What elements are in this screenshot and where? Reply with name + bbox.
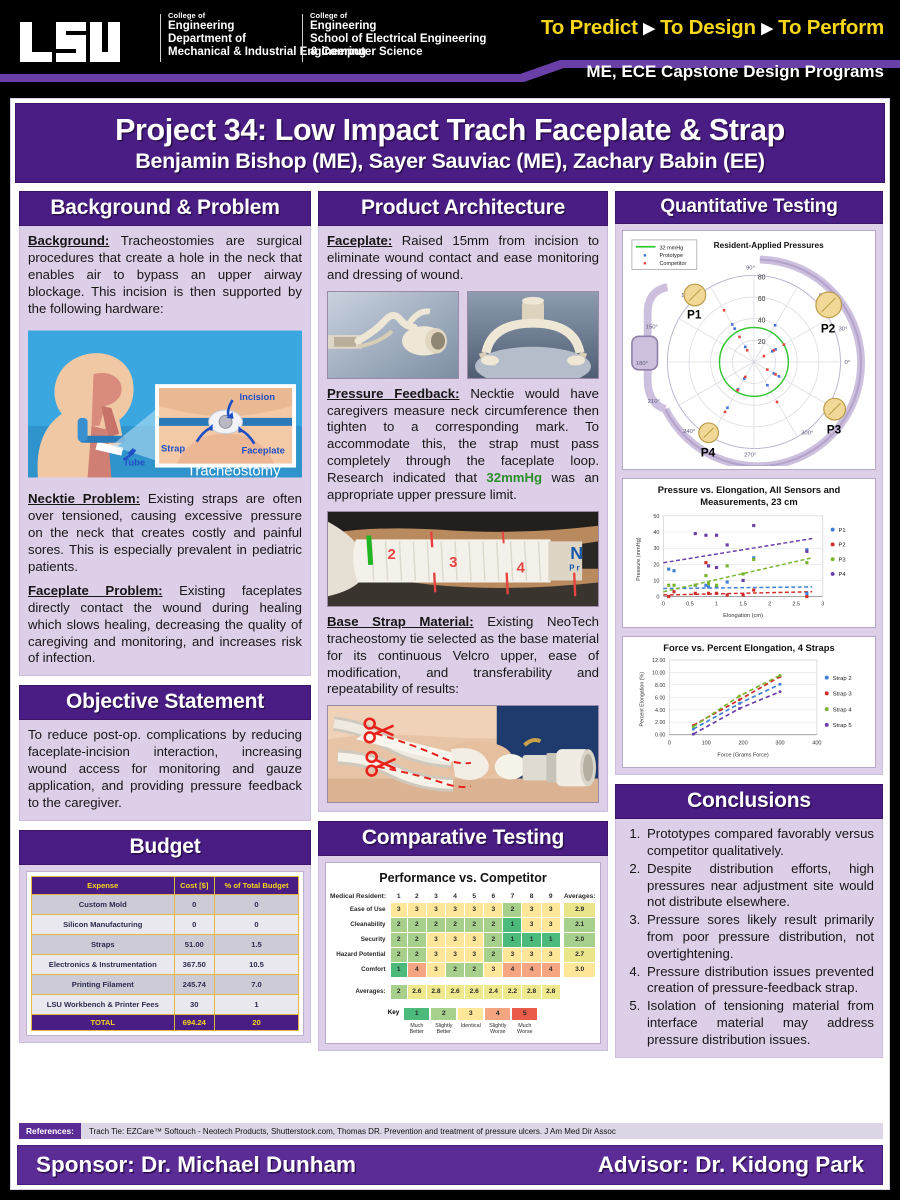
scatter-legend-label: P3 — [839, 557, 846, 563]
r-tick-40: 40 — [758, 318, 766, 325]
heatmap-key-item: 4Slightly Worse — [484, 1007, 511, 1036]
budget-row: Silicon Manufacturing00 — [32, 914, 299, 934]
heatmap-averages-row: Averages:22.62.82.62.62.42.22.82.8 — [330, 984, 596, 999]
heatmap-cell: 3 — [465, 902, 484, 917]
page-title: Project 34: Low Impact Trach Faceplate &… — [115, 113, 785, 148]
polar-point-competitor — [724, 411, 727, 414]
panel-objective-statement: Objective Statement To reduce post-op. c… — [19, 685, 311, 820]
scatter-legend-swatch — [831, 542, 835, 546]
neotech-brand-mark: N — [570, 543, 583, 563]
line-chart-title: Force vs. Percent Elongation, 4 Straps — [626, 640, 872, 654]
scatter-point-P2 — [694, 592, 697, 595]
line-legend-swatch — [825, 723, 829, 727]
polar-pressure-chart: Resident-Applied Pressures 32 mmHg Proto… — [626, 234, 872, 466]
heatmap-cell: 3 — [541, 917, 560, 932]
heatmap-key: Key 1Much Better2Slightly Better3Identic… — [330, 1007, 596, 1036]
heatmap-cell: 1 — [541, 932, 560, 947]
budget-row: Electronics & Instrumentation367.5010.5 — [32, 954, 299, 974]
line-legend-label: Strap 5 — [833, 723, 853, 729]
heatmap-cell: 3 — [465, 947, 484, 962]
scatter-point-P4 — [704, 533, 707, 536]
heatmap-resident-label: Medical Resident: — [330, 890, 390, 902]
faceplate-problem-lead: Faceplate Problem: — [28, 583, 163, 598]
heatmap-cell: 2 — [484, 932, 503, 947]
heatmap-cell: 3 — [390, 902, 407, 917]
theta-150: 150° — [646, 324, 658, 330]
heatmap-row-label: Hazard Potential — [330, 947, 390, 962]
line-point — [779, 690, 782, 693]
conclusions-list: Prototypes compared favorably versus com… — [624, 826, 874, 1048]
panel-header-conclusions: Conclusions — [615, 784, 883, 819]
scatter-point-P3 — [667, 583, 670, 586]
strap-modification-photo — [327, 705, 599, 803]
budget-cell-expense: Custom Mold — [32, 894, 175, 914]
line-ytick: 6.00 — [655, 695, 665, 701]
polar-point-competitor — [738, 336, 741, 339]
scatter-point-P2 — [742, 593, 745, 596]
polar-point-competitor — [773, 349, 776, 352]
scatter-point-P1 — [726, 580, 729, 583]
heatmap-key-box: 1 — [403, 1007, 430, 1021]
scatter-point-P4 — [715, 533, 718, 536]
heatmap-cell: 3 — [445, 932, 464, 947]
heatmap-row: Ease of Use3333332332.9 — [330, 902, 596, 917]
scatter-point-P2 — [726, 593, 729, 596]
heatmap-cell: 2 — [407, 947, 426, 962]
heatmap-cell: 4 — [541, 962, 560, 977]
scatter-point-P2 — [715, 592, 718, 595]
panel-budget: Budget Expense Cost [$] % of Total Budge… — [19, 830, 311, 1043]
heatmap-column-average: 2.6 — [407, 984, 426, 999]
heatmap-key-caption: Much Worse — [511, 1023, 538, 1036]
polar-point-prototype — [774, 324, 777, 327]
heatmap-cell: 2 — [407, 917, 426, 932]
background-paragraph: Background: Tracheostomies are surgical … — [28, 233, 302, 317]
budget-table-wrapper: Expense Cost [$] % of Total Budget Custo… — [26, 871, 304, 1036]
heatmap-key-box: 4 — [484, 1007, 511, 1021]
faceplate-photo-front — [467, 291, 599, 379]
heatmap-key-item: 3Identical — [457, 1007, 484, 1036]
dept-b-engineering: Engineering — [310, 20, 486, 33]
heatmap-row-label: Security — [330, 932, 390, 947]
budget-cell-pct: 10.5 — [215, 954, 299, 974]
heatmap-cell: 1 — [390, 962, 407, 977]
panel-title-objective: Objective Statement — [66, 690, 264, 713]
heatmap-cell: 1 — [503, 917, 522, 932]
heatmap-key-item: 1Much Better — [403, 1007, 430, 1036]
dept-b-school2: & Computer Science — [310, 46, 486, 59]
panel-header-budget: Budget — [19, 830, 311, 865]
heatmap-cell: 2 — [445, 917, 464, 932]
scatter-xtick: 0.5 — [686, 601, 694, 607]
strap-mark-2: 2 — [388, 547, 396, 563]
line-ytick: 2.00 — [655, 720, 665, 726]
polar-legend-threshold: 32 mmHg — [659, 245, 683, 251]
heatmap-col-9: 9 — [541, 890, 560, 902]
heatmap-cell: 3 — [484, 902, 503, 917]
line-xtick: 200 — [739, 741, 748, 747]
line-point — [738, 695, 741, 698]
polar-legend-competitor: Competitor — [659, 261, 686, 267]
heatmap-cell: 4 — [503, 962, 522, 977]
panel-header-objective: Objective Statement — [19, 685, 311, 720]
panel-background-problem: Background & Problem Background: Tracheo… — [19, 191, 311, 676]
scatter-legend-swatch — [831, 527, 835, 531]
polar-label-p1: P1 — [687, 308, 702, 322]
sponsor-name: Sponsor: Dr. Michael Dunham — [36, 1152, 356, 1178]
line-legend-label: Strap 2 — [833, 676, 852, 682]
conclusion-item: Despite distribution efforts, high press… — [644, 861, 874, 911]
polar-chart-box: Resident-Applied Pressures 32 mmHg Proto… — [622, 230, 876, 470]
heatmap-column-average: 2.4 — [484, 984, 503, 999]
panel-product-architecture: Product Architecture Faceplate: Raised 1… — [318, 191, 608, 812]
poster-columns: Background & Problem Background: Tracheo… — [11, 191, 891, 1191]
svg-text:P r: P r — [569, 564, 579, 573]
heatmap-cell: 3 — [407, 902, 426, 917]
scatter-ytick: 0 — [656, 594, 659, 600]
heatmap-cell: 3 — [522, 917, 541, 932]
scatter-point-P3 — [694, 583, 697, 586]
heatmap-cell: 3 — [445, 947, 464, 962]
heatmap-cell: 2 — [465, 917, 484, 932]
budget-col-expense: Expense — [32, 876, 175, 894]
budget-cell-pct: 7.0 — [215, 974, 299, 994]
poster-body: Project 34: Low Impact Trach Faceplate &… — [10, 98, 890, 1190]
objective-text: To reduce post-op. complications by redu… — [28, 727, 302, 811]
scatter-point-P4 — [726, 543, 729, 546]
line-ytick: 4.00 — [655, 708, 665, 714]
scatter-ylabel: Pressure (mmHg) — [636, 537, 642, 581]
theta-210: 210° — [648, 399, 660, 405]
polar-point-prototype — [766, 384, 769, 387]
heatmap-row-average: 3.0 — [564, 962, 596, 977]
heatmap-col-5: 5 — [465, 890, 484, 902]
heatmap-cell: 4 — [407, 962, 426, 977]
necktie-problem-paragraph: Necktie Problem: Existing straps are oft… — [28, 491, 302, 575]
budget-cell-expense: Printing Filament — [32, 974, 175, 994]
scatter-point-P2 — [805, 595, 808, 598]
scatter-xtick: 2 — [768, 601, 771, 607]
lsu-logo-icon — [18, 18, 150, 66]
budget-cell-pct: 1 — [215, 994, 299, 1014]
column-right: Quantitative Testing Resident-Applied Pr… — [615, 191, 883, 1067]
heatmap-cell: 4 — [522, 962, 541, 977]
panel-title-budget: Budget — [129, 835, 200, 858]
line-xtick: 400 — [812, 741, 821, 747]
scatter-point-P3 — [805, 561, 808, 564]
heatmap-col-6: 6 — [484, 890, 503, 902]
faceplate-paragraph: Faceplate: Raised 15mm from incision to … — [327, 233, 599, 284]
line-point — [779, 674, 782, 677]
heatmap-footer: Averages:22.62.82.62.62.42.22.82.8 — [330, 977, 596, 999]
dept-b-college: College of — [310, 12, 486, 20]
panel-header-background: Background & Problem — [19, 191, 311, 226]
lsu-header-bar: College of Engineering Department of Mec… — [0, 0, 900, 88]
faceplate-photo-row — [327, 291, 599, 379]
panel-title-background: Background & Problem — [50, 196, 279, 219]
heatmap-row-average: 2.0 — [564, 932, 596, 947]
budget-total-row: TOTAL694.2420 — [32, 1014, 299, 1030]
line-legend-swatch — [825, 707, 829, 711]
tracheostomy-diagram: Incision Strap Faceplate Tube Tracheosto… — [28, 330, 302, 478]
heatmap-cell: 2 — [484, 947, 503, 962]
panel-title-comparative: Comparative Testing — [362, 826, 564, 849]
panel-title-architecture: Product Architecture — [361, 196, 565, 219]
panel-title-quantitative: Quantitative Testing — [660, 196, 837, 217]
scatter-point-P2 — [672, 590, 675, 593]
scatter-point-P4 — [707, 564, 710, 567]
heatmap-column-average: 2 — [390, 984, 407, 999]
budget-cell-cost: 51.00 — [174, 934, 214, 954]
scatter-legend-label: P2 — [839, 542, 846, 548]
heatmap-key-box: 3 — [457, 1007, 484, 1021]
budget-cell-expense: LSU Workbench & Printer Fees — [32, 994, 175, 1014]
diagram-label-incision: Incision — [239, 391, 275, 402]
polar-point-prototype — [733, 327, 736, 330]
panel-header-architecture: Product Architecture — [318, 191, 608, 226]
scatter-point-P3 — [672, 583, 675, 586]
budget-row: Custom Mold00 — [32, 894, 299, 914]
budget-table: Expense Cost [$] % of Total Budget Custo… — [31, 876, 299, 1031]
column-middle: Product Architecture Faceplate: Raised 1… — [318, 191, 608, 1060]
line-point — [692, 733, 695, 736]
marked-strap-photo: 2 3 4 N P r — [327, 511, 599, 607]
budget-cell-cost: 0 — [174, 894, 214, 914]
heatmap-key-box: 5 — [511, 1007, 538, 1021]
heatmap-key-box: 2 — [430, 1007, 457, 1021]
r-tick-20: 20 — [758, 339, 766, 346]
scatter-point-P1 — [672, 569, 675, 572]
heatmap-column-average: 2.8 — [426, 984, 445, 999]
panel-conclusions: Conclusions Prototypes compared favorabl… — [615, 784, 883, 1058]
scatter-point-P3 — [726, 564, 729, 567]
polar-legend-prototype: Prototype — [659, 253, 683, 259]
author-list: Benjamin Bishop (ME), Sayer Sauviac (ME)… — [135, 149, 765, 174]
heatmap-col-8: 8 — [522, 890, 541, 902]
scatter-point-P2 — [752, 588, 755, 591]
line-point — [692, 725, 695, 728]
budget-total-cell: TOTAL — [32, 1014, 175, 1030]
heatmap-key-label: Key — [388, 1009, 400, 1016]
heatmap-cell: 2 — [390, 917, 407, 932]
theta-0: 0° — [844, 360, 850, 366]
budget-cell-cost: 0 — [174, 914, 214, 934]
scatter-point-P3 — [704, 574, 707, 577]
scatter-point-P4 — [742, 579, 745, 582]
budget-row: Printing Filament245.747.0 — [32, 974, 299, 994]
performance-heatmap-table: Medical Resident: 1 2 3 4 5 6 7 8 — [330, 890, 596, 1000]
heatmap-key-caption: Slightly Worse — [484, 1023, 511, 1036]
strap-mark-4: 4 — [517, 561, 526, 577]
line-legend-swatch — [825, 676, 829, 680]
polar-point-competitor — [776, 401, 779, 404]
panel-comparative-testing: Comparative Testing Performance vs. Comp… — [318, 821, 608, 1050]
r-tick-80: 80 — [758, 274, 766, 281]
conclusion-item: Prototypes compared favorably versus com… — [644, 826, 874, 860]
budget-row: Straps51.001.5 — [32, 934, 299, 954]
scatter-ytick: 40 — [653, 530, 659, 536]
tagline-perform: To Perform — [778, 16, 884, 39]
line-ytick: 10.00 — [652, 671, 665, 677]
polar-chart-title: Resident-Applied Pressures — [714, 241, 824, 250]
heatmap-key-caption: Much Better — [403, 1023, 430, 1036]
scatter-point-P4 — [805, 550, 808, 553]
polar-point-competitor — [763, 355, 766, 358]
tagline-design: To Design — [660, 16, 756, 39]
heatmap-cell: 3 — [426, 947, 445, 962]
polar-point-competitor — [766, 368, 769, 371]
heatmap-spacer-row — [330, 977, 596, 984]
heatmap-row-average: 2.7 — [564, 947, 596, 962]
polar-point-competitor — [746, 349, 749, 352]
budget-col-pct: % of Total Budget — [215, 876, 299, 894]
diagram-label-tube: Tube — [123, 457, 145, 468]
scatter-xtick: 1 — [715, 601, 718, 607]
heatmap-col-averages: Averages: — [564, 890, 596, 902]
heatmap-cell: 2 — [465, 962, 484, 977]
budget-cell-expense: Electronics & Instrumentation — [32, 954, 175, 974]
heatmap-row-average: 2.1 — [564, 917, 596, 932]
polar-point-prototype — [744, 346, 747, 349]
line-ytick: 0.00 — [655, 733, 665, 739]
scatter-point-P4 — [715, 566, 718, 569]
scatter-legend-swatch — [831, 572, 835, 576]
budget-cell-cost: 245.74 — [174, 974, 214, 994]
polar-point-competitor — [783, 343, 786, 346]
heatmap-column-average: 2.8 — [541, 984, 560, 999]
heatmap-cell: 2 — [426, 917, 445, 932]
heatmap-cell: 1 — [522, 932, 541, 947]
heatmap-col-1: 1 — [390, 890, 407, 902]
panel-title-conclusions: Conclusions — [687, 789, 811, 812]
heatmap-row-label: Ease of Use — [330, 902, 390, 917]
heatmap-cell: 3 — [503, 947, 522, 962]
line-legend-swatch — [825, 692, 829, 696]
heatmap-body: Ease of Use3333332332.9Cleanability22222… — [330, 902, 596, 977]
heatmap-cell: 2 — [445, 962, 464, 977]
heatmap-cell: 3 — [445, 902, 464, 917]
heatmap-column-average: 2.6 — [445, 984, 464, 999]
heatmap-key-caption: Identical — [457, 1023, 484, 1029]
polar-label-p2: P2 — [821, 321, 836, 335]
heatmap-cell: 3 — [426, 902, 445, 917]
pressure-vs-elongation-chart: 01020304050 00.511.522.53 Pressure (mmHg… — [626, 508, 872, 624]
line-xtick: 100 — [702, 741, 711, 747]
budget-cell-cost: 30 — [174, 994, 214, 1014]
heatmap-col-4: 4 — [445, 890, 464, 902]
polar-label-p3: P3 — [827, 423, 842, 437]
budget-table-header-row: Expense Cost [$] % of Total Budget — [32, 876, 299, 894]
references-text: Trach Tie: EZCare™ Softouch - Neotech Pr… — [81, 1123, 883, 1139]
heatmap-cell: 2 — [484, 917, 503, 932]
poster-canvas: College of Engineering Department of Mec… — [0, 0, 900, 1200]
necktie-problem-lead: Necktie Problem: — [28, 491, 140, 506]
heatmap-wrapper: Performance vs. Competitor Medical Resid… — [325, 862, 601, 1043]
heatmap-cell: 3 — [426, 962, 445, 977]
force-vs-elongation-chart: 0.002.004.006.008.0010.0012.00 010020030… — [626, 654, 872, 764]
line-ytick: 12.00 — [652, 658, 665, 664]
scatter-point-P2 — [707, 592, 710, 595]
line-legend-label: Strap 4 — [833, 707, 853, 713]
scatter-legend-label: P4 — [839, 572, 846, 578]
heatmap-row-average: 2.9 — [564, 902, 596, 917]
polar-point-competitor — [736, 389, 739, 392]
scatter-point-P4 — [694, 532, 697, 535]
heatmap-column-average: 2.2 — [503, 984, 522, 999]
heatmap-key-caption: Slightly Better — [430, 1023, 457, 1036]
scatter-point-P4 — [752, 524, 755, 527]
pressure-limit-value: 32mmHg — [486, 470, 542, 485]
faceplate-problem-paragraph: Faceplate Problem: Existing faceplates d… — [28, 583, 302, 667]
theta-240: 240° — [683, 429, 695, 435]
polar-label-p4: P4 — [701, 445, 716, 459]
heatmap-row: Cleanability2222221332.1 — [330, 917, 596, 932]
heatmap-cell: 3 — [465, 932, 484, 947]
heatmap-column-average: 2.8 — [522, 984, 541, 999]
poster-title-band: Project 34: Low Impact Trach Faceplate &… — [15, 103, 885, 183]
heatmap-cell: 3 — [522, 947, 541, 962]
scatter-ytick: 30 — [653, 546, 659, 552]
scatter-xtick: 0 — [662, 601, 665, 607]
theta-30: 30° — [839, 326, 848, 332]
heatmap-cell: 3 — [541, 902, 560, 917]
heatmap-row: Comfort1432234443.0 — [330, 962, 596, 977]
theta-300: 300° — [801, 431, 813, 437]
heatmap-col-7: 7 — [503, 890, 522, 902]
budget-row: LSU Workbench & Printer Fees301 — [32, 994, 299, 1014]
faceplate-lead: Faceplate: — [327, 233, 392, 248]
references-bar: References: Trach Tie: EZCare™ Softouch … — [19, 1123, 883, 1139]
heatmap-averages-label: Averages: — [330, 984, 390, 999]
heatmap-cell: 2 — [407, 932, 426, 947]
panel-quantitative-testing: Quantitative Testing Resident-Applied Pr… — [615, 191, 883, 775]
theta-180: 180° — [636, 361, 648, 367]
scatter-chart-title: Pressure vs. Elongation, All Sensors and… — [626, 482, 872, 508]
base-strap-paragraph: Base Strap Material: Existing NeoTech tr… — [327, 614, 599, 698]
heatmap-col-3: 3 — [426, 890, 445, 902]
sponsor-advisor-bar: Sponsor: Dr. Michael Dunham Advisor: Dr.… — [17, 1145, 883, 1185]
heatmap-title: Performance vs. Competitor — [330, 871, 596, 885]
pressure-feedback-lead: Pressure Feedback: — [327, 386, 460, 401]
heatmap-row: Security2233321112.0 — [330, 932, 596, 947]
heatmap-cell: 2 — [390, 932, 407, 947]
heatmap-cell: 3 — [522, 902, 541, 917]
scatter-point-P1 — [707, 585, 710, 588]
heatmap-cell: 2 — [390, 947, 407, 962]
polar-point-competitor — [744, 376, 747, 379]
line-legend-label: Strap 3 — [833, 692, 853, 698]
heatmap-cell: 2 — [503, 902, 522, 917]
triangle-right-icon: ▶ — [643, 20, 654, 37]
scatter-point-P3 — [752, 558, 755, 561]
heatmap-cell: 3 — [426, 932, 445, 947]
line-point — [779, 683, 782, 686]
heatmap-row: Hazard Potential2233323332.7 — [330, 947, 596, 962]
references-label: References: — [19, 1123, 81, 1139]
force-elongation-chart-box: Force vs. Percent Elongation, 4 Straps 0… — [622, 636, 876, 768]
tagline: To Predict ▶ To Design ▶ To Perform — [541, 16, 884, 40]
budget-cell-pct: 0 — [215, 914, 299, 934]
scatter-ytick: 50 — [653, 514, 659, 520]
triangle-right-icon-2: ▶ — [761, 20, 772, 37]
panel-header-comparative: Comparative Testing — [318, 821, 608, 856]
line-ylabel: Percent Elongation (%) — [640, 672, 646, 727]
polar-point-prototype — [778, 375, 781, 378]
pressure-elongation-chart-box: Pressure vs. Elongation, All Sensors and… — [622, 478, 876, 628]
tagline-predict: To Predict — [541, 16, 638, 39]
scatter-legend-swatch — [831, 557, 835, 561]
budget-cell-pct: 0 — [215, 894, 299, 914]
